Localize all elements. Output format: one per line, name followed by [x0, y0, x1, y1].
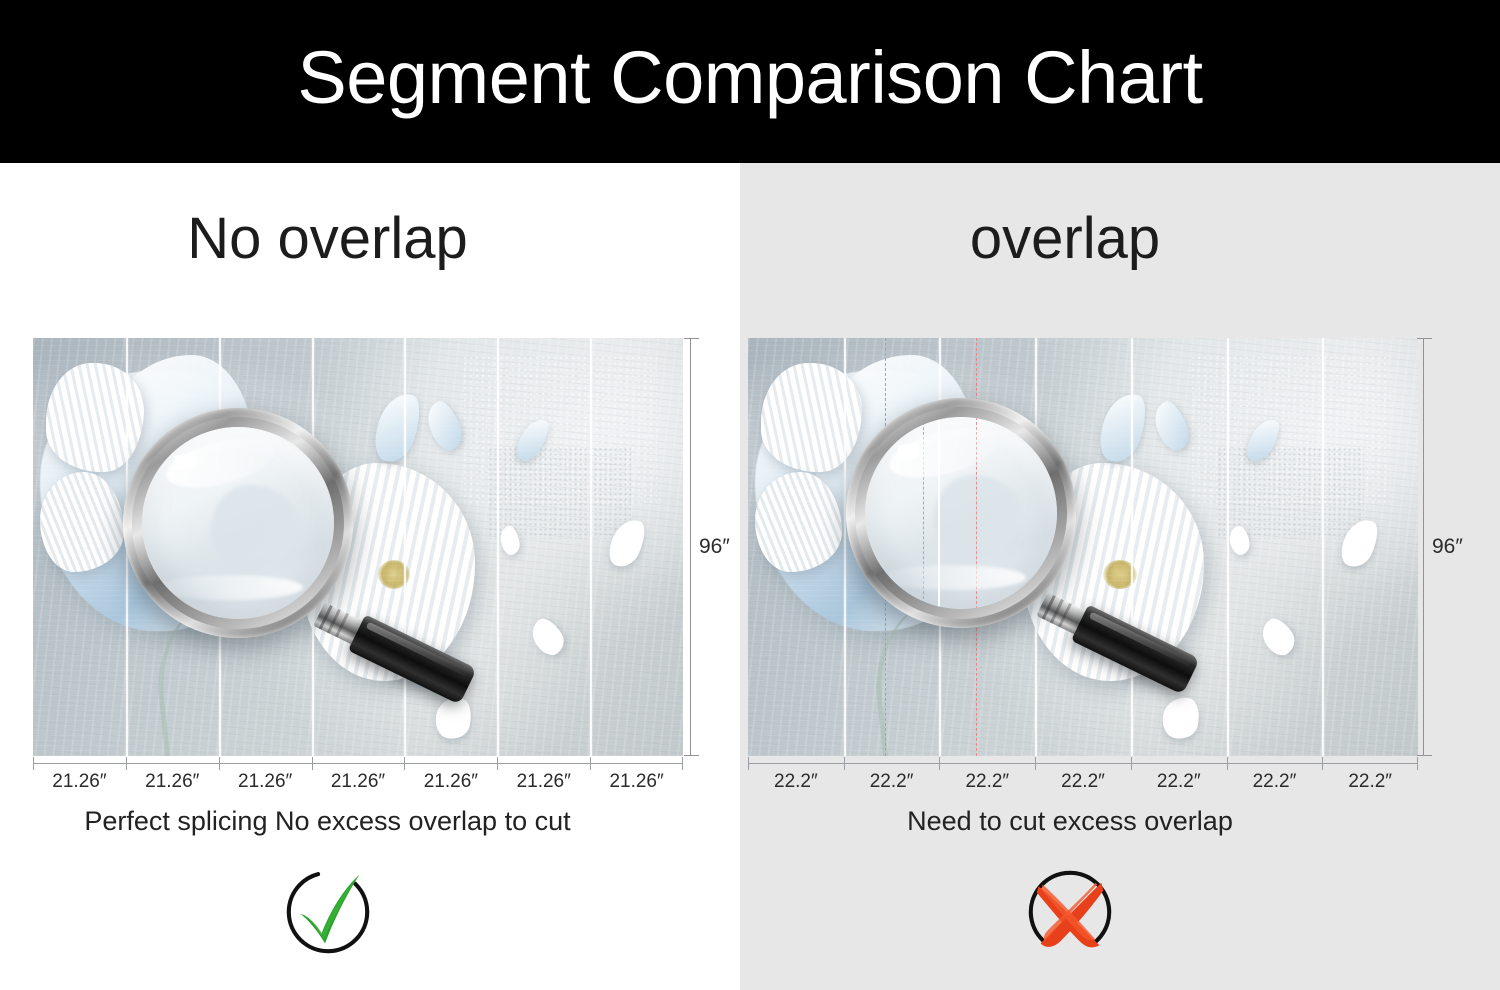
seam-line [404, 338, 406, 756]
segment-width-label: 22.2″ [1227, 771, 1323, 793]
floating-petal [367, 388, 426, 468]
panel-overlap: overlap [740, 163, 1500, 990]
segment-width-label: 21.26″ [404, 771, 497, 793]
seam-line [590, 338, 592, 756]
white-rose-left [46, 363, 144, 472]
panel-heading-overlap: overlap [740, 210, 1500, 268]
height-dimension-label: 96″ [1432, 535, 1463, 559]
magnifier-lens-glass [142, 427, 334, 619]
halftone-texture-icon [1190, 355, 1391, 505]
dimension-tick [1322, 757, 1323, 770]
segment-width-label: 22.2″ [1131, 771, 1227, 793]
width-dimension-no-overlap: 21.26″ 21.26″ 21.26″ 21.26″ 21.26″ 21.26… [33, 763, 683, 764]
comparison-body: No overlap [0, 163, 1500, 990]
height-dimension-overlap: 96″ [1423, 338, 1424, 756]
mural-artwork [748, 338, 1418, 756]
peony-center-core [378, 560, 411, 589]
dimension-tick [33, 757, 34, 770]
segment-width-label: 21.26″ [126, 771, 219, 793]
floating-petal [1335, 514, 1384, 572]
panel-seam-lines [748, 338, 1418, 756]
halftone-texture-secondary-icon [1217, 447, 1364, 539]
segment-width-label: 21.26″ [590, 771, 683, 793]
dimension-tick [1131, 757, 1132, 770]
seam-line [1322, 338, 1324, 756]
dimension-tick [590, 757, 591, 770]
dimension-tick [748, 757, 749, 770]
floating-petal [1093, 388, 1153, 468]
floating-petal [525, 614, 569, 660]
dimension-tick [844, 757, 845, 770]
dimension-tick [404, 757, 405, 770]
seam-line [1131, 338, 1133, 756]
mural-no-overlap [33, 338, 683, 756]
segment-width-label: 22.2″ [1035, 771, 1131, 793]
mural-overlap [748, 338, 1418, 756]
floating-petal [1256, 613, 1300, 660]
floating-petal [1228, 524, 1252, 557]
panel-no-overlap: No overlap [0, 163, 740, 990]
segment-width-label: 21.26″ [312, 771, 405, 793]
peony-center-core [1103, 560, 1137, 589]
dimension-tick [126, 757, 127, 770]
magnifier-outer-ring [123, 408, 353, 638]
height-dimension-label: 96″ [699, 535, 730, 559]
caption-overlap: Need to cut excess overlap [740, 808, 1500, 835]
white-rose-left-lower [755, 472, 842, 572]
floating-petal [1159, 694, 1203, 742]
segment-width-label: 21.26″ [497, 771, 590, 793]
floating-petal [1241, 414, 1285, 466]
dimension-tick [219, 757, 220, 770]
caption-no-overlap: Perfect splicing No excess overlap to cu… [0, 808, 740, 835]
segment-width-label: 22.2″ [748, 771, 844, 793]
header-banner: Segment Comparison Chart [0, 0, 1500, 163]
seam-line [1227, 338, 1229, 756]
segment-width-label: 21.26″ [33, 771, 126, 793]
seam-line [844, 338, 846, 756]
segment-width-label: 21.26″ [219, 771, 312, 793]
white-rose-left [761, 363, 862, 472]
floating-petal [511, 415, 554, 467]
width-dimension-labels: 21.26″ 21.26″ 21.26″ 21.26″ 21.26″ 21.26… [33, 771, 683, 793]
floating-petal [1148, 397, 1194, 455]
verdict-no-overlap [0, 863, 740, 961]
page-title: Segment Comparison Chart [297, 41, 1202, 123]
magnifier-lens-glass [865, 417, 1057, 609]
red-cross-circle-icon [1021, 863, 1119, 961]
dimension-tick [1227, 757, 1228, 770]
lens-refraction [211, 485, 295, 573]
dimension-tick [1035, 757, 1036, 770]
magnifier-outer-ring [846, 398, 1076, 628]
seam-line [497, 338, 499, 756]
lens-bottom-highlight [157, 575, 303, 600]
lens-bottom-highlight [880, 565, 1026, 590]
halftone-texture-secondary-icon [488, 447, 631, 539]
floating-petal [498, 525, 522, 557]
dimension-tick [939, 757, 940, 770]
width-dimension-overlap: 22.2″ 22.2″ 22.2″ 22.2″ 22.2″ 22.2″ 22.2… [748, 763, 1418, 764]
width-dimension-labels: 22.2″ 22.2″ 22.2″ 22.2″ 22.2″ 22.2″ 22.2… [748, 771, 1418, 793]
segment-width-label: 22.2″ [844, 771, 940, 793]
halftone-texture-icon [462, 355, 657, 505]
segment-width-label: 22.2″ [939, 771, 1035, 793]
floating-petal [421, 397, 466, 454]
floating-petal [603, 514, 651, 572]
dimension-tick [312, 757, 313, 770]
white-rose-left-lower [40, 472, 125, 572]
dimension-tick [1417, 757, 1418, 770]
segment-width-label: 22.2″ [1322, 771, 1418, 793]
dimension-tick [682, 757, 683, 770]
green-check-circle-icon [279, 863, 377, 961]
dimension-tick [497, 757, 498, 770]
panel-heading-no-overlap: No overlap [0, 210, 740, 268]
height-dimension-no-overlap: 96″ [690, 338, 691, 756]
verdict-overlap [740, 863, 1500, 961]
